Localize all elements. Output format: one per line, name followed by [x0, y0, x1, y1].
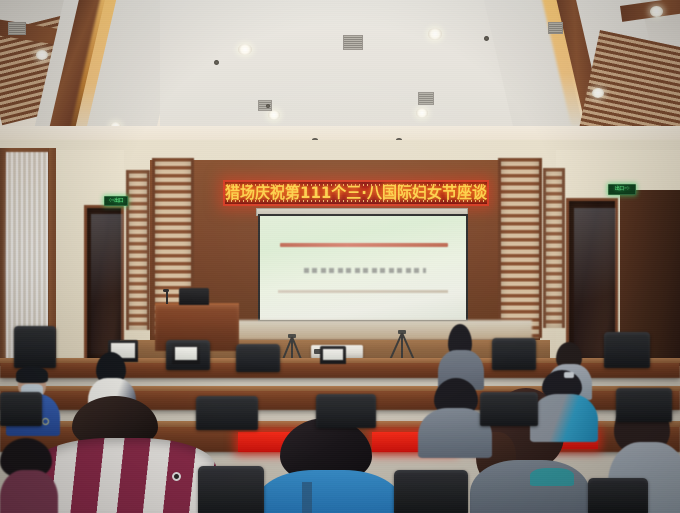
chair[interactable] — [196, 396, 258, 430]
led-banner-text: 狩猎场庆祝第111个三·八国际妇女节座谈会 — [223, 185, 489, 201]
coat-button — [172, 472, 181, 481]
audience-person — [530, 370, 596, 438]
hair-clip — [564, 372, 574, 378]
person-hair — [16, 366, 48, 383]
ceiling-spot-icon — [266, 104, 270, 108]
chair[interactable] — [616, 388, 672, 422]
podium-monitor — [179, 288, 209, 305]
ceiling-vent-icon — [548, 22, 563, 34]
projection-screen-frame — [258, 214, 468, 322]
photo-scene: ⇦ 出口 出口 ⇨ 狩猎场庆祝第111个三·八国际妇女节座谈会 — [0, 0, 680, 513]
exit-sign-left-label: ⇦ 出口 — [109, 199, 123, 204]
downlight-icon — [650, 6, 663, 17]
ceiling-spot-icon — [214, 60, 219, 65]
downlight-icon — [428, 28, 442, 40]
acoustic-slat-panel-right — [498, 158, 542, 338]
downlight-icon — [36, 50, 48, 60]
chair[interactable] — [588, 478, 648, 513]
audience-person — [0, 438, 56, 513]
desk-monitor — [320, 346, 346, 364]
chair[interactable] — [604, 332, 650, 368]
exit-sign-right: 出口 ⇨ — [608, 184, 636, 195]
ceiling-vent-icon — [343, 35, 363, 50]
audience-person — [438, 324, 484, 386]
downlight-icon — [268, 110, 280, 120]
audience-person — [256, 418, 396, 513]
chair[interactable] — [480, 392, 538, 426]
slide-accent-rule — [280, 243, 448, 247]
ceiling-spot-icon — [484, 36, 489, 41]
chair[interactable] — [316, 394, 376, 428]
slide-body-text — [304, 268, 426, 273]
chair[interactable] — [0, 392, 42, 426]
chair[interactable] — [198, 466, 264, 513]
chair[interactable] — [394, 470, 468, 513]
slide-lower-rule — [278, 290, 448, 293]
desk-monitor-screen — [323, 349, 343, 360]
desk-monitor — [172, 344, 200, 364]
tripod-right-leg — [401, 333, 403, 359]
ceiling — [0, 0, 680, 152]
acoustic-slat-panel-left-2 — [126, 170, 150, 330]
led-banner: 狩猎场庆祝第111个三·八国际妇女节座谈会 — [223, 180, 489, 206]
audience-person — [32, 396, 210, 513]
podium-microphone — [166, 292, 168, 304]
projection-screen-surface — [260, 216, 466, 320]
downlight-icon — [416, 108, 428, 118]
chair[interactable] — [236, 344, 280, 372]
chair[interactable] — [14, 326, 56, 368]
striped-coat — [32, 438, 216, 513]
ceiling-vent-icon — [8, 22, 26, 35]
ceiling-vent-icon — [418, 92, 434, 105]
exit-sign-right-label: 出口 ⇨ — [615, 187, 629, 192]
person-body — [256, 470, 402, 513]
jacket-strap — [302, 482, 312, 513]
person-body — [0, 470, 58, 513]
downlight-icon — [592, 88, 604, 98]
person-body — [470, 460, 590, 513]
downlight-icon — [238, 44, 252, 55]
exit-sign-left: ⇦ 出口 — [104, 196, 128, 206]
acoustic-slat-panel-right-2 — [543, 168, 565, 328]
door-glass-left — [91, 214, 123, 354]
podium-microphone-head — [163, 289, 169, 292]
chair[interactable] — [492, 338, 536, 370]
jacket-collar — [530, 468, 574, 486]
desk-monitor-screen — [175, 347, 197, 360]
person-body — [530, 394, 598, 442]
